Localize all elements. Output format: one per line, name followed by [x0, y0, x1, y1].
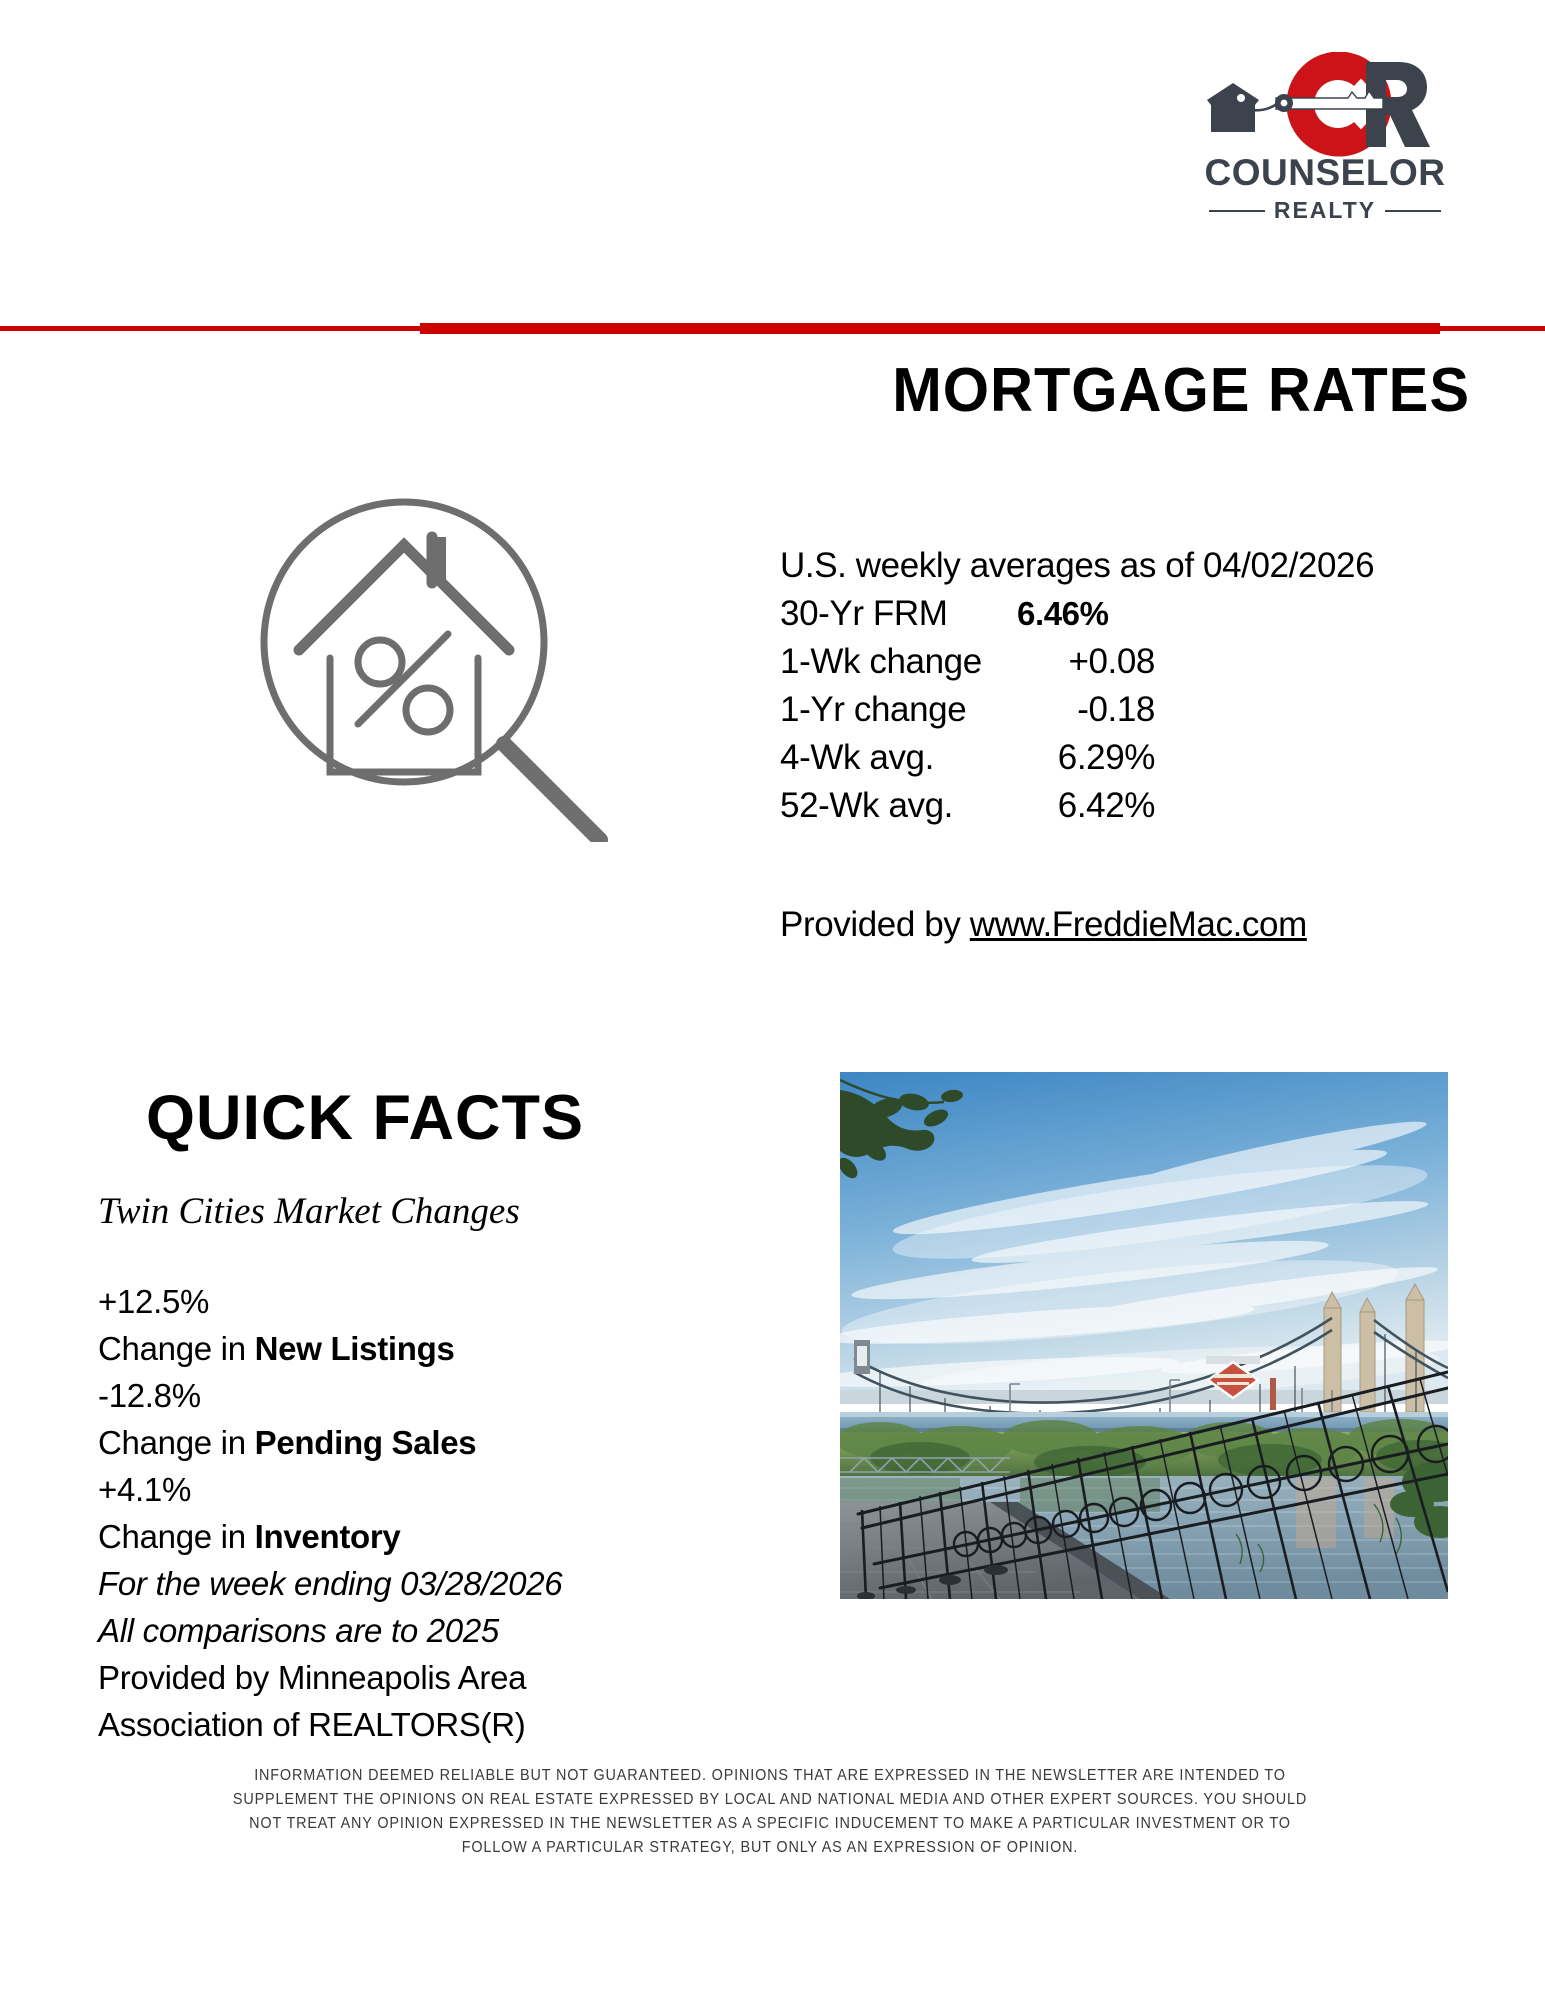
brand-rule-left	[1209, 210, 1265, 212]
rate-label: 1-Wk change	[780, 638, 995, 686]
rate-value: 6.42%	[995, 782, 1155, 830]
cr-monogram-icon	[1180, 52, 1470, 157]
rate-value-frm: 6.46%	[995, 590, 1109, 638]
stat-row: Change in Pending Sales	[98, 1419, 562, 1466]
mortgage-rates-title: MORTGAGE RATES	[808, 355, 1470, 426]
stat-metric: Pending Sales	[255, 1424, 477, 1461]
stat-value: +4.1%	[98, 1466, 562, 1513]
rate-value: +0.08	[995, 638, 1155, 686]
freddiemac-attribution: Provided by www.FreddieMac.com	[780, 905, 1307, 945]
header-divider-thick	[420, 323, 1440, 334]
stat-prefix: Change in	[98, 1518, 255, 1555]
stat-prefix: Change in	[98, 1330, 255, 1367]
disclaimer-line: SUPPLEMENT THE OPINIONS ON REAL ESTATE E…	[142, 1788, 1398, 1812]
rate-label: 1-Yr change	[780, 686, 995, 734]
quick-facts-title: QUICK FACTS	[146, 1082, 584, 1154]
stat-value: -12.8%	[98, 1372, 562, 1419]
rate-label: 4-Wk avg.	[780, 734, 995, 782]
stat-metric: New Listings	[255, 1330, 455, 1367]
brand-name: COUNSELOR	[1180, 152, 1470, 194]
quick-facts-stats: +12.5% Change in New Listings -12.8% Cha…	[98, 1278, 562, 1748]
stat-note-comparison: All comparisons are to 2025	[98, 1607, 562, 1654]
house-percent-magnifier-icon	[252, 482, 672, 842]
brand-logo: COUNSELOR REALTY	[1180, 52, 1470, 212]
riverwalk-bridge-photo	[840, 1072, 1448, 1599]
quick-facts-subtitle: Twin Cities Market Changes	[98, 1190, 520, 1233]
stat-row: Change in New Listings	[98, 1325, 562, 1372]
brand-rule-right	[1385, 210, 1441, 212]
brand-subname: REALTY	[1274, 197, 1376, 224]
stat-value: +12.5%	[98, 1278, 562, 1325]
stat-row: Change in Inventory	[98, 1513, 562, 1560]
stat-metric: Inventory	[255, 1518, 401, 1555]
rate-row: 1-Wk change +0.08	[780, 638, 1480, 686]
rate-label: 52-Wk avg.	[780, 782, 995, 830]
photo-artwork	[840, 1072, 1448, 1599]
disclaimer-line: NOT TREAT ANY OPINION EXPRESSED IN THE N…	[142, 1812, 1398, 1836]
rate-value: -0.18	[995, 686, 1155, 734]
disclaimer-line: FOLLOW A PARTICULAR STRATEGY, BUT ONLY A…	[142, 1836, 1398, 1860]
rate-row: 4-Wk avg. 6.29%	[780, 734, 1480, 782]
maar-attribution-line1: Provided by Minneapolis Area	[98, 1654, 562, 1701]
maar-attribution-line2: Association of REALTORS(R)	[98, 1701, 562, 1748]
rate-row-primary: 30-Yr FRM 6.46%	[780, 590, 1480, 638]
mortgage-rates-table: U.S. weekly averages as of 04/02/2026 30…	[780, 542, 1480, 830]
stat-note-week: For the week ending 03/28/2026	[98, 1560, 562, 1607]
freddiemac-link[interactable]: www.FreddieMac.com	[970, 905, 1307, 944]
rate-row: 52-Wk avg. 6.42%	[780, 782, 1480, 830]
rate-value: 6.29%	[995, 734, 1155, 782]
provided-by-label: Provided by	[780, 905, 970, 944]
disclaimer-line: INFORMATION DEEMED RELIABLE BUT NOT GUAR…	[142, 1764, 1398, 1788]
brand-subname-row: REALTY	[1180, 197, 1470, 224]
rate-label-frm: 30-Yr FRM	[780, 590, 995, 638]
disclaimer: INFORMATION DEEMED RELIABLE BUT NOT GUAR…	[142, 1764, 1398, 1860]
stat-prefix: Change in	[98, 1424, 255, 1461]
rates-headline: U.S. weekly averages as of 04/02/2026	[780, 542, 1480, 590]
rate-row: 1-Yr change -0.18	[780, 686, 1480, 734]
